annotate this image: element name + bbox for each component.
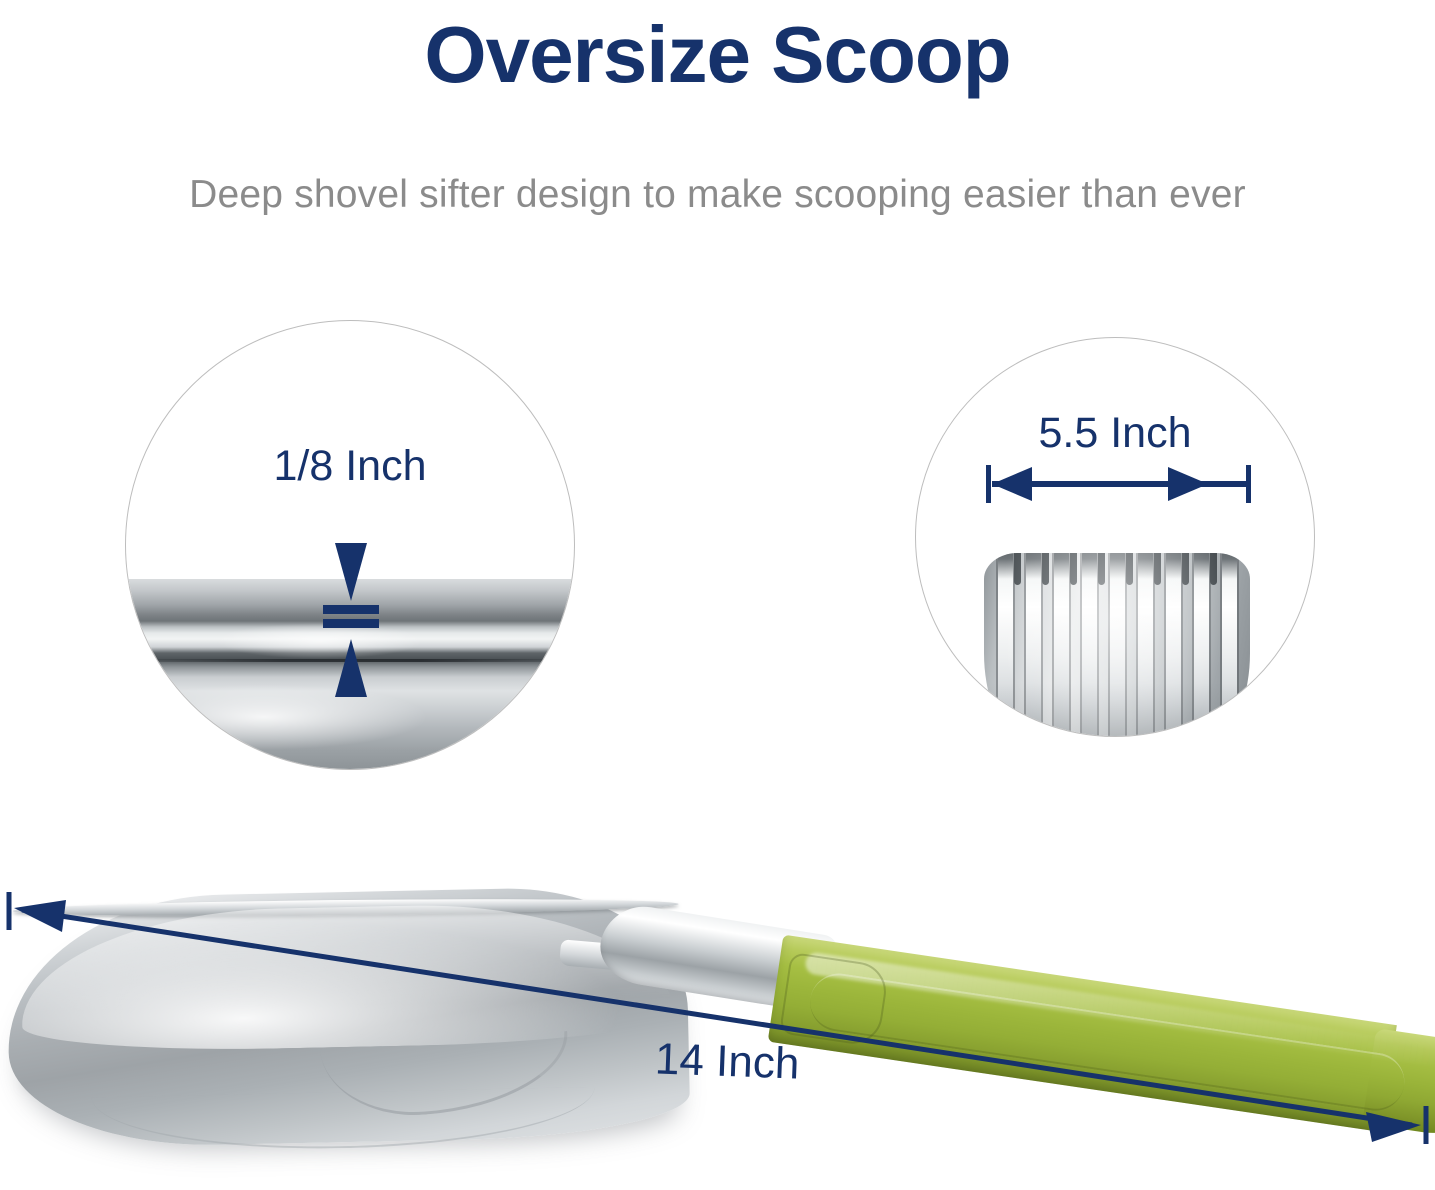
scoop-face-shading (984, 553, 1250, 737)
page-title: Oversize Scoop (0, 3, 1435, 107)
slotted-scoop-face (984, 553, 1250, 737)
thickness-bar-bottom (323, 619, 379, 628)
callout-label-width: 5.5 Inch (916, 408, 1314, 458)
callout-circle-thickness: 1/8 Inch (125, 320, 575, 770)
thickness-arrow-down-icon (335, 543, 367, 601)
dimension-arrowhead-left-icon (992, 467, 1032, 501)
callout-label-thickness: 1/8 Inch (126, 441, 574, 491)
dimension-arrowhead-right-icon (1168, 467, 1208, 501)
infographic-canvas: Oversize Scoop Deep shovel sifter design… (0, 0, 1435, 1190)
thickness-arrow-up-icon (335, 639, 367, 697)
dimension-cap-left (986, 465, 991, 503)
rim-highlight-secondary (215, 623, 424, 659)
callout-circle-width: 5.5 Inch (915, 337, 1315, 737)
thickness-bar-top (323, 605, 379, 614)
rim-highlight (151, 683, 432, 751)
length-dimension-arrow (0, 840, 1435, 1190)
page-subtitle: Deep shovel sifter design to make scoopi… (0, 168, 1435, 222)
product-photo: 14 Inch (0, 840, 1435, 1190)
length-label: 14 Inch (654, 1032, 800, 1091)
